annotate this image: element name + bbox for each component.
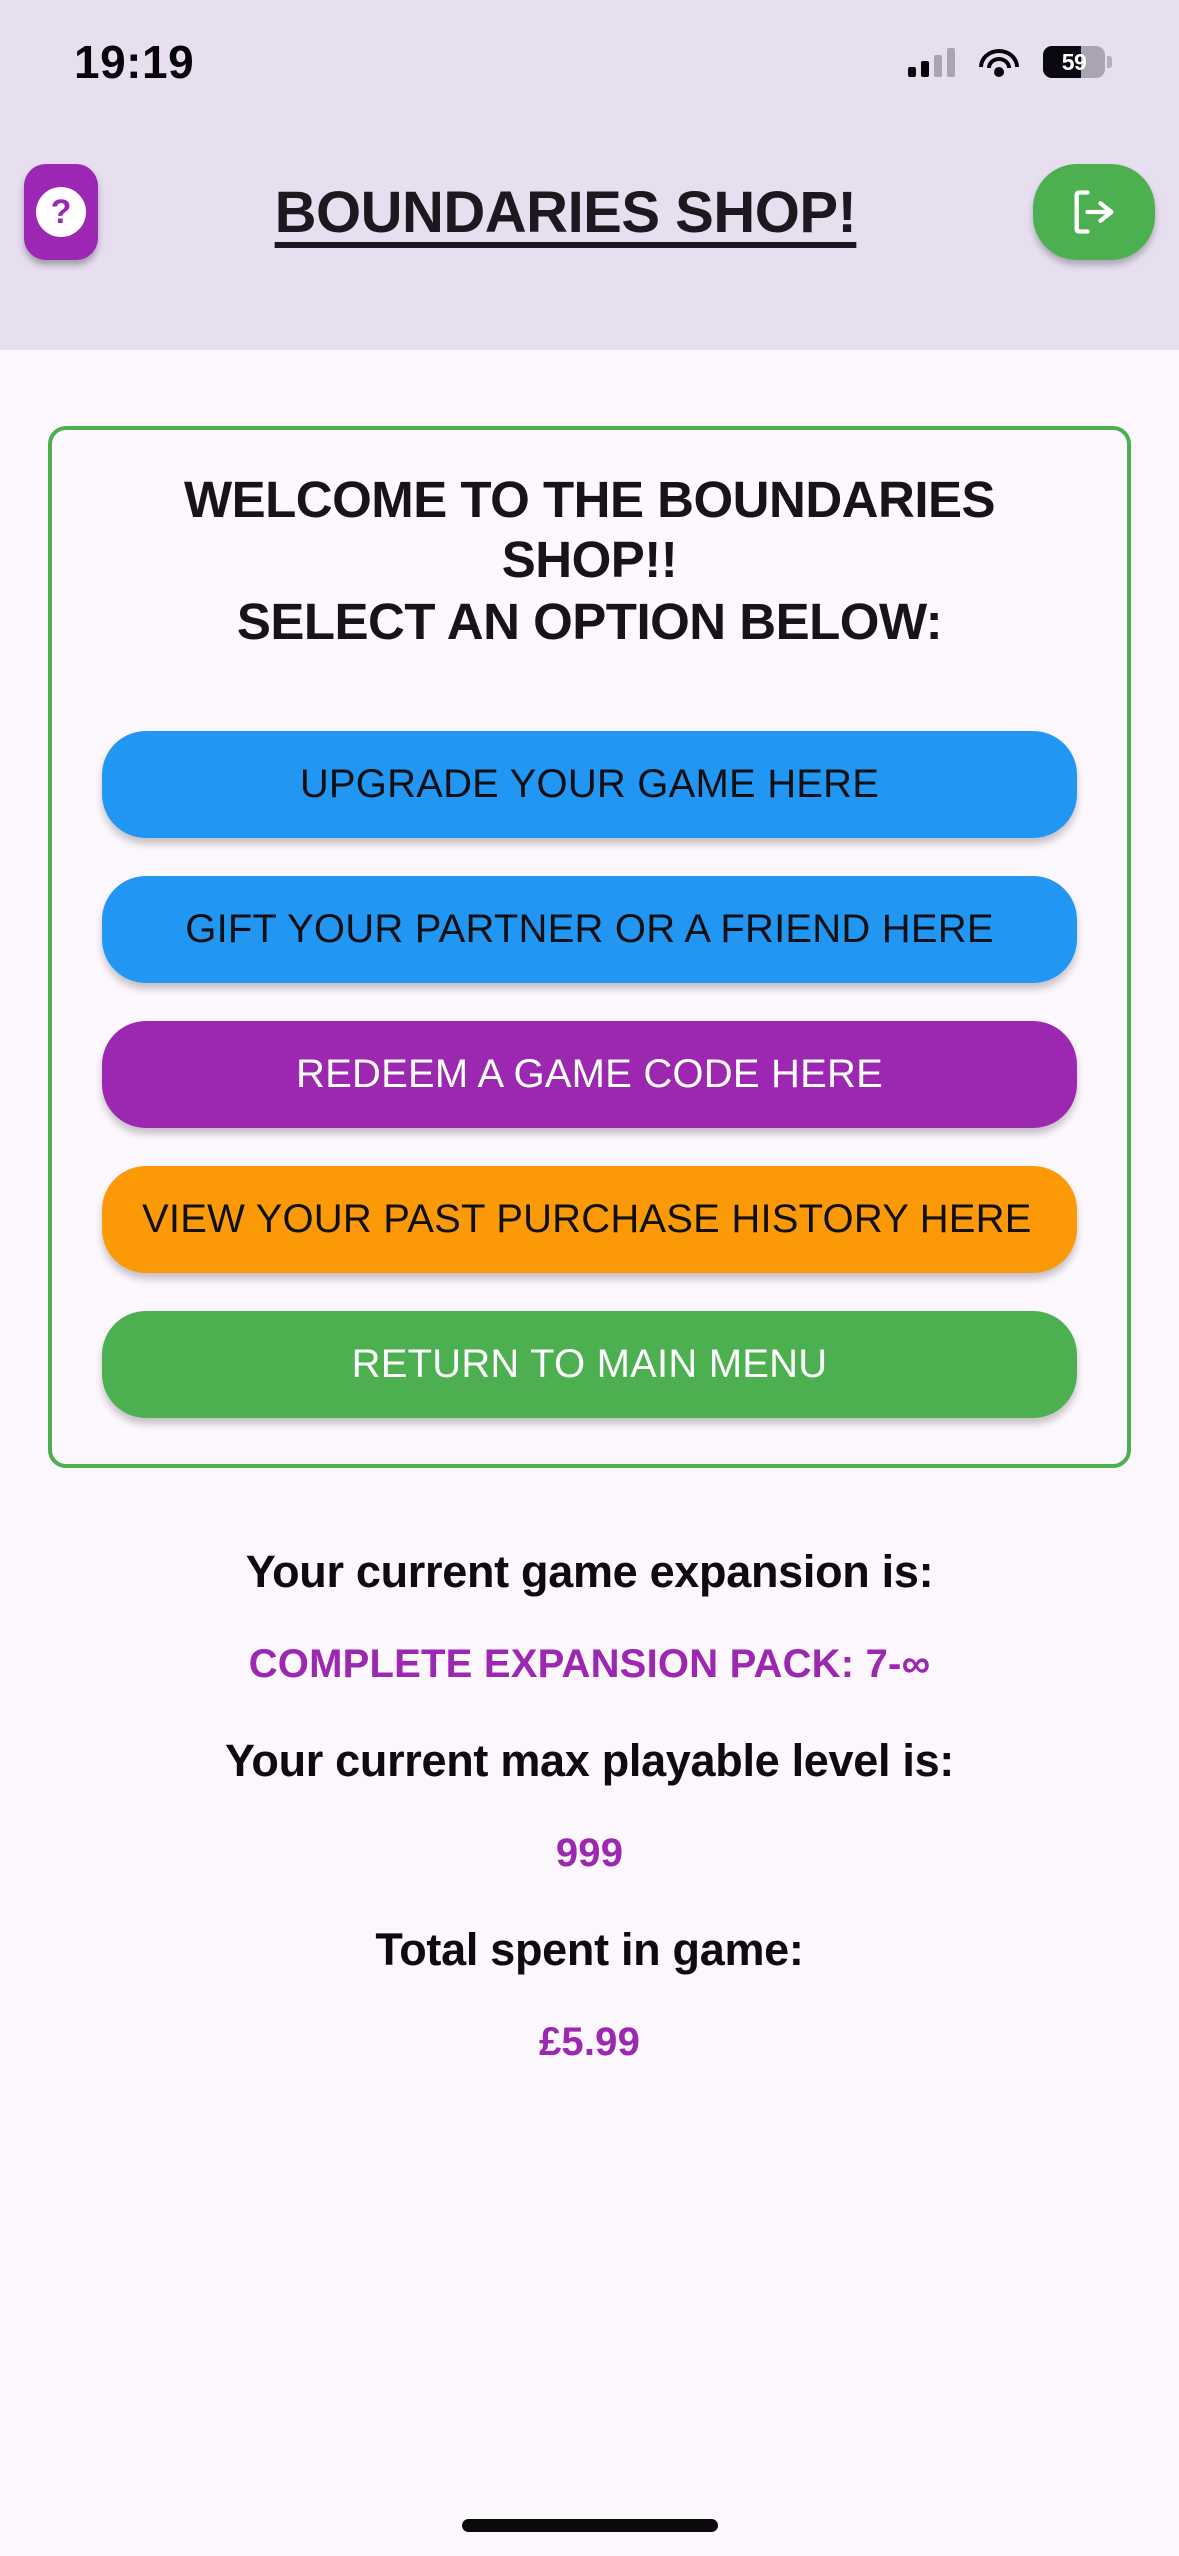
wifi-icon <box>979 47 1019 77</box>
expansion-label: Your current game expansion is: <box>40 1546 1139 1598</box>
shop-options-card: WELCOME TO THE BOUNDARIES SHOP!! SELECT … <box>48 426 1131 1468</box>
logout-arrow-icon <box>1068 186 1120 238</box>
status-indicators: 59 <box>908 46 1105 78</box>
redeem-code-button[interactable]: REDEEM A GAME CODE HERE <box>102 1021 1077 1128</box>
shop-action-list: UPGRADE YOUR GAME HERE GIFT YOUR PARTNER… <box>102 731 1077 1419</box>
question-mark-icon: ? <box>36 187 86 237</box>
cellular-signal-icon <box>908 47 955 77</box>
max-level-label: Your current max playable level is: <box>40 1735 1139 1787</box>
max-level-value: 999 <box>40 1831 1139 1876</box>
gift-partner-button[interactable]: GIFT YOUR PARTNER OR A FRIEND HERE <box>102 876 1077 983</box>
main-content: WELCOME TO THE BOUNDARIES SHOP!! SELECT … <box>0 426 1179 2065</box>
help-button[interactable]: ? <box>24 164 98 260</box>
total-spent-label: Total spent in game: <box>40 1924 1139 1976</box>
status-bar: 19:19 59 <box>0 0 1179 110</box>
purchase-history-button[interactable]: VIEW YOUR PAST PURCHASE HISTORY HERE <box>102 1166 1077 1273</box>
app-header: ? BOUNDARIES SHOP! <box>0 110 1179 350</box>
welcome-heading: WELCOME TO THE BOUNDARIES SHOP!! <box>102 470 1077 590</box>
battery-percent-label: 59 <box>1043 49 1105 76</box>
total-spent-value: £5.99 <box>40 2020 1139 2065</box>
upgrade-game-button[interactable]: UPGRADE YOUR GAME HERE <box>102 731 1077 838</box>
select-option-heading: SELECT AN OPTION BELOW: <box>102 592 1077 652</box>
expansion-value: COMPLETE EXPANSION PACK: 7-∞ <box>40 1642 1139 1687</box>
account-stats: Your current game expansion is: COMPLETE… <box>0 1546 1179 2065</box>
battery-icon: 59 <box>1043 46 1105 78</box>
logout-button[interactable] <box>1033 164 1155 260</box>
return-main-menu-button[interactable]: RETURN TO MAIN MENU <box>102 1311 1077 1418</box>
page-title: BOUNDARIES SHOP! <box>98 179 1033 246</box>
status-clock: 19:19 <box>74 35 194 89</box>
home-indicator[interactable] <box>462 2519 718 2532</box>
